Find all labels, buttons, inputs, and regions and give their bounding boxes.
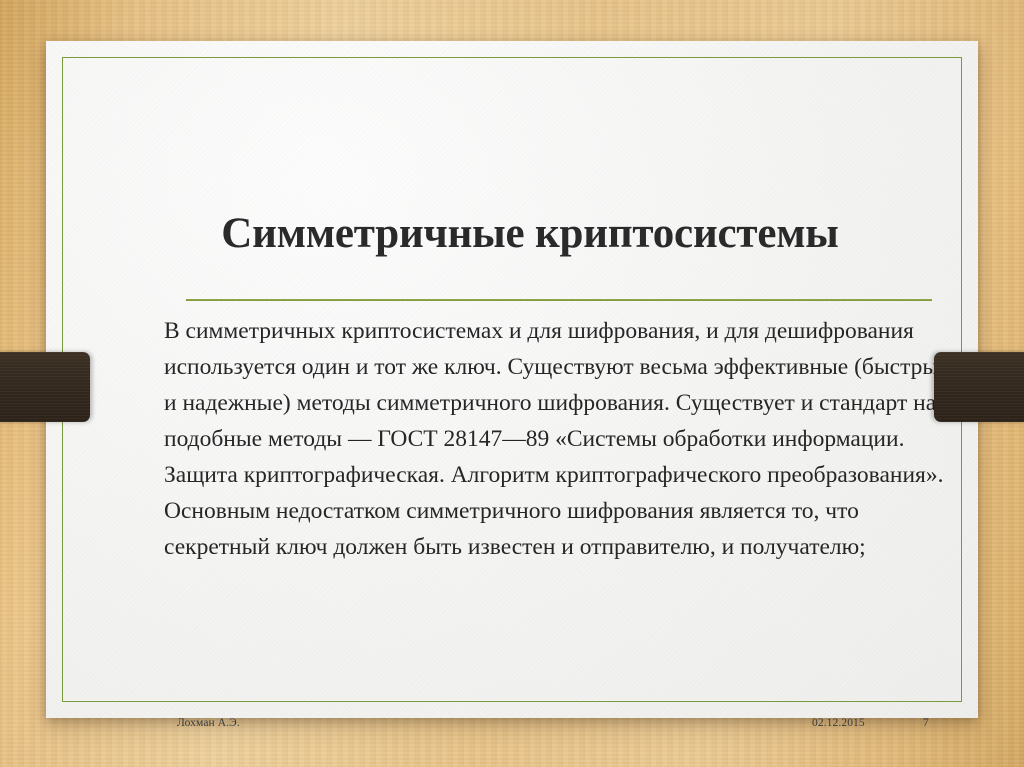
footer-page-number: 7	[923, 717, 929, 729]
body-paragraph-1: В симметричных криптосистемах и для шифр…	[164, 313, 954, 493]
slide-body-text: В симметричных криптосистемах и для шифр…	[164, 313, 954, 565]
footer-author: Лохман А.Э.	[177, 717, 240, 729]
left-edge-bar	[0, 352, 90, 422]
title-underline-rule	[186, 299, 932, 301]
body-paragraph-2: Основным недостатком симметричного шифро…	[164, 493, 954, 565]
right-edge-bar	[934, 352, 1024, 422]
footer-date: 02.12.2015	[812, 717, 865, 729]
slide-footer: Лохман А.Э. 02.12.2015 7	[46, 713, 978, 739]
presentation-slide: Симметричные криптосистемы В симметричны…	[46, 41, 978, 718]
slide-title: Симметричные криптосистемы	[150, 209, 910, 258]
